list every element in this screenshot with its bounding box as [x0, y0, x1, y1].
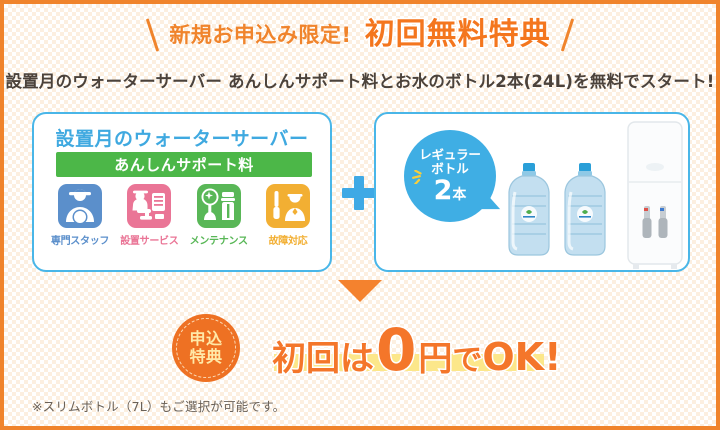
- support-card-title: 設置月のウォーターサーバー: [34, 124, 330, 151]
- price-de: で: [452, 335, 482, 379]
- price-prefix: 初回は: [272, 331, 374, 380]
- product-card: レギュラー ボトル 2本: [374, 112, 690, 272]
- service-label-repair: 故障対応: [256, 232, 320, 247]
- application-bonus-badge: 申込 特典: [172, 314, 240, 382]
- service-label-staff: 専門スタッフ: [48, 232, 112, 247]
- installation-icon: [127, 184, 171, 228]
- bubble-unit: 本: [452, 187, 466, 203]
- water-server-icon: [624, 120, 686, 270]
- badge-line1: 申込: [189, 330, 222, 348]
- badge-line2: 特典: [189, 348, 222, 366]
- price-ok: OK!: [482, 335, 561, 379]
- price-number: 0: [376, 316, 416, 384]
- price-yen: 円: [418, 331, 452, 380]
- bubble-line2: ボトル: [431, 162, 469, 176]
- left-slash-icon: [146, 18, 159, 51]
- service-item-staff: 専門スタッフ: [48, 184, 112, 247]
- price-line: 初回は0円でOK!: [272, 316, 561, 378]
- repair-worker-icon: [266, 184, 310, 228]
- service-label-installation: 設置サービス: [117, 232, 181, 247]
- footnote: ※スリムボトル（7L）もご選択が可能です。: [32, 396, 285, 415]
- maintenance-icon: [197, 184, 241, 228]
- plus-icon: [342, 176, 376, 210]
- header-subtitle: 設置月のウォーターサーバー あんしんサポート料とお水のボトル2本(24L)を無料…: [4, 68, 716, 92]
- header-eyebrow: 新規お申込み限定!: [169, 25, 351, 46]
- promo-banner: 新規お申込み限定! 初回無料特典 設置月のウォーターサーバー あんしんサポート料…: [0, 0, 720, 430]
- support-fee-bar: あんしんサポート料: [56, 152, 312, 177]
- headline-group: 新規お申込み限定! 初回無料特典: [141, 18, 578, 52]
- service-icon-row: 専門スタッフ: [48, 184, 320, 247]
- sparkle-icon: [412, 170, 428, 184]
- staff-person-icon: [58, 184, 102, 228]
- header: 新規お申込み限定! 初回無料特典: [4, 18, 716, 52]
- service-item-maintenance: メンテナンス: [187, 184, 251, 247]
- bubble-count: 2本: [434, 177, 467, 204]
- water-bottle-icon: [558, 162, 612, 258]
- service-label-maintenance: メンテナンス: [187, 232, 251, 247]
- service-item-installation: 設置サービス: [117, 184, 181, 247]
- header-headline: 初回無料特典: [365, 20, 551, 50]
- down-triangle-arrow-icon: [338, 280, 382, 302]
- right-slash-icon: [560, 18, 573, 51]
- support-card: 設置月のウォーターサーバー あんしんサポート料 専門スタッフ: [32, 112, 332, 272]
- support-fee-label: あんしんサポート料: [114, 154, 254, 175]
- bubble-line1: レギュラー: [419, 148, 481, 162]
- service-item-repair: 故障対応: [256, 184, 320, 247]
- water-bottle-icon: [502, 162, 556, 258]
